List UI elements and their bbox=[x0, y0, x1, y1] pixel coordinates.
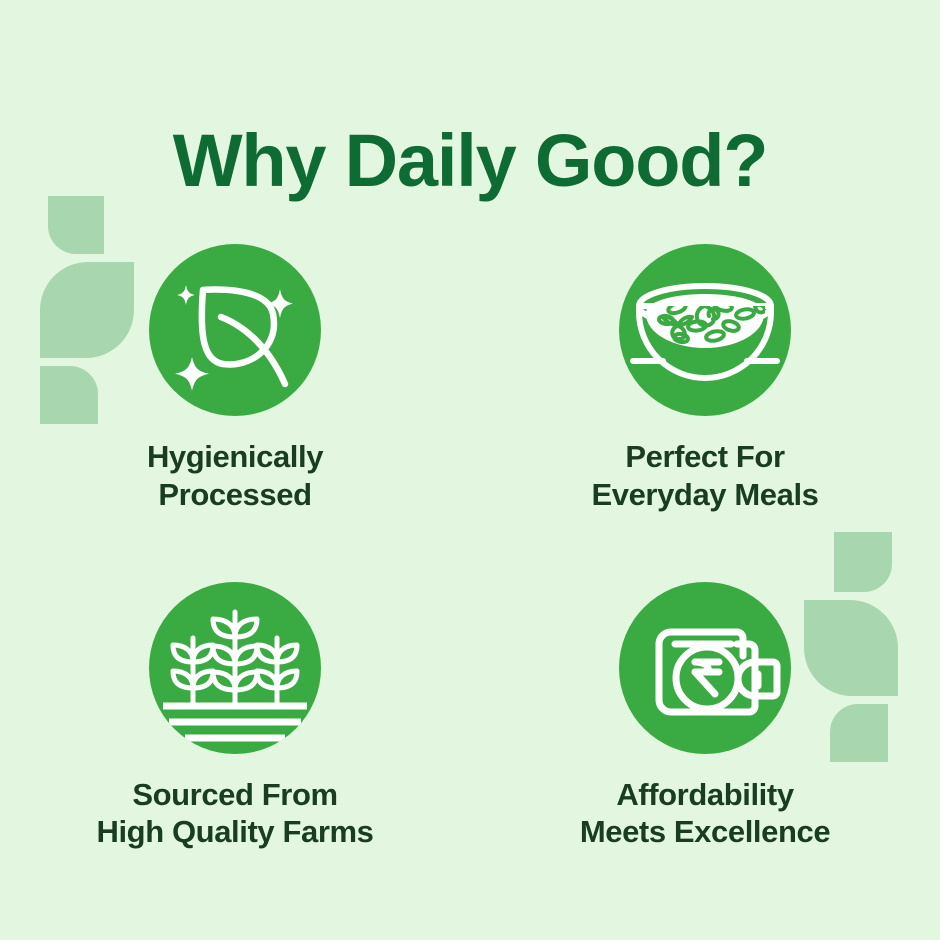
feature-label: Affordability Meets Excellence bbox=[580, 776, 830, 852]
feature-card-sourced-from-high-quality-farms: Sourced From High Quality Farms bbox=[0, 582, 470, 852]
sparkle-leaf-icon bbox=[149, 244, 321, 416]
feature-grid: Hygienically Processed bbox=[0, 244, 940, 851]
why-daily-good-poster: Why Daily Good? Hygienically Processed bbox=[0, 0, 940, 940]
page-title: Why Daily Good? bbox=[0, 124, 940, 198]
wallet-rupee-icon bbox=[619, 582, 791, 754]
feature-label: Hygienically Processed bbox=[147, 438, 323, 514]
feature-card-perfect-for-everyday-meals: Perfect For Everyday Meals bbox=[470, 244, 940, 514]
feature-label: Perfect For Everyday Meals bbox=[591, 438, 818, 514]
soup-bowl-icon bbox=[619, 244, 791, 416]
feature-card-hygienically-processed: Hygienically Processed bbox=[0, 244, 470, 514]
feature-label: Sourced From High Quality Farms bbox=[96, 776, 373, 852]
crop-field-icon bbox=[149, 582, 321, 754]
feature-card-affordability-meets-excellence: Affordability Meets Excellence bbox=[470, 582, 940, 852]
